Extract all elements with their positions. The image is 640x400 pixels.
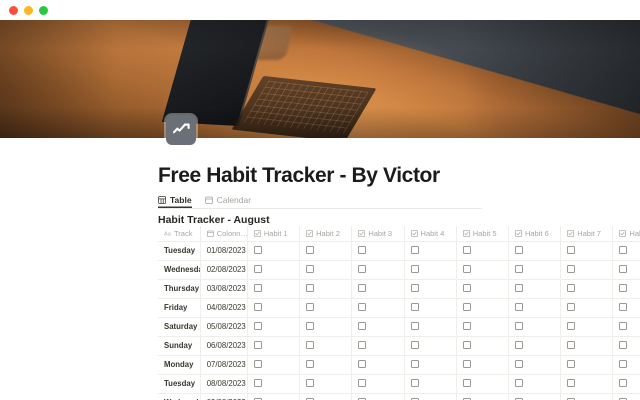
cell-habit-7[interactable]: [561, 279, 613, 298]
cover-vignette: [0, 20, 640, 138]
cell-habit-3[interactable]: [352, 336, 404, 355]
checkbox-habit-8[interactable]: [619, 341, 627, 349]
checkbox-habit-5[interactable]: [463, 379, 471, 387]
minimize-button[interactable]: [24, 6, 33, 15]
checkbox-habit-4[interactable]: [411, 341, 419, 349]
checkbox-habit-6[interactable]: [515, 265, 523, 273]
cell-habit-5[interactable]: [456, 355, 508, 374]
checkbox-icon: [411, 230, 418, 237]
checkbox-habit-7[interactable]: [567, 322, 575, 330]
table-row[interactable]: Thursday03/08/2023: [158, 279, 640, 298]
page-body: Free Habit Tracker - By Victor Table: [0, 138, 640, 400]
checkbox-habit-6[interactable]: [515, 379, 523, 387]
cell-habit-6[interactable]: [508, 279, 560, 298]
table-row[interactable]: Monday07/08/2023: [158, 355, 640, 374]
cell-day[interactable]: Sunday: [158, 336, 200, 355]
checkbox-habit-4[interactable]: [411, 322, 419, 330]
column-header-habit-8[interactable]: Habit 8: [613, 226, 640, 241]
column-header-track[interactable]: Aa Track: [158, 226, 200, 241]
table-row[interactable]: Wednesday02/08/2023: [158, 260, 640, 279]
table-row[interactable]: Tuesday01/08/2023: [158, 241, 640, 260]
page-cover-image[interactable]: [0, 20, 640, 138]
cell-day[interactable]: Saturday: [158, 317, 200, 336]
cell-date[interactable]: 07/08/2023: [200, 355, 247, 374]
cell-date[interactable]: 02/08/2023: [200, 260, 247, 279]
cell-habit-1[interactable]: [247, 298, 299, 317]
cell-habit-1[interactable]: [247, 393, 299, 400]
column-header-colonne-label: Colonn…: [217, 229, 248, 238]
cell-habit-3[interactable]: [352, 260, 404, 279]
cell-habit-5[interactable]: [456, 393, 508, 400]
tab-bar-divider: [158, 208, 482, 209]
column-header-colonne[interactable]: Colonn…: [200, 226, 247, 241]
cell-habit-2[interactable]: [300, 374, 352, 393]
cell-date[interactable]: 03/08/2023: [200, 279, 247, 298]
checkbox-habit-6[interactable]: [515, 341, 523, 349]
checkbox-habit-3[interactable]: [358, 341, 366, 349]
checkbox-habit-7[interactable]: [567, 265, 575, 273]
cell-habit-1[interactable]: [247, 279, 299, 298]
cell-habit-6[interactable]: [508, 374, 560, 393]
cell-habit-5[interactable]: [456, 374, 508, 393]
chart-icon[interactable]: [166, 115, 196, 145]
column-header-habit-7-label: Habit 7: [577, 229, 601, 238]
page-title: Free Habit Tracker - By Victor: [158, 164, 440, 188]
close-button[interactable]: [9, 6, 18, 15]
column-header-habit-5-label: Habit 5: [473, 229, 497, 238]
cell-habit-8[interactable]: [613, 241, 640, 260]
checkbox-habit-2[interactable]: [306, 379, 314, 387]
cell-habit-4[interactable]: [404, 317, 456, 336]
cell-habit-3[interactable]: [352, 393, 404, 400]
checkbox-habit-2[interactable]: [306, 265, 314, 273]
table-row[interactable]: Tuesday08/08/2023: [158, 374, 640, 393]
cell-habit-6[interactable]: [508, 393, 560, 400]
cell-habit-3[interactable]: [352, 317, 404, 336]
cell-habit-6[interactable]: [508, 317, 560, 336]
cell-habit-8[interactable]: [613, 317, 640, 336]
checkbox-icon: [515, 230, 522, 237]
tab-table-label: Table: [170, 195, 192, 205]
column-header-habit-8-label: Habit 8: [629, 229, 640, 238]
checkbox-habit-2[interactable]: [306, 322, 314, 330]
checkbox-habit-8[interactable]: [619, 246, 627, 254]
table-header-row: Aa Track: [158, 226, 640, 241]
cell-date[interactable]: 05/08/2023: [200, 317, 247, 336]
checkbox-habit-8[interactable]: [619, 303, 627, 311]
cell-habit-1[interactable]: [247, 374, 299, 393]
cell-habit-4[interactable]: [404, 374, 456, 393]
checkbox-habit-2[interactable]: [306, 303, 314, 311]
column-header-habit-1[interactable]: Habit 1: [247, 226, 299, 241]
cell-habit-7[interactable]: [561, 355, 613, 374]
checkbox-habit-7[interactable]: [567, 303, 575, 311]
cell-habit-7[interactable]: [561, 260, 613, 279]
cell-habit-4[interactable]: [404, 279, 456, 298]
cell-habit-3[interactable]: [352, 298, 404, 317]
checkbox-habit-7[interactable]: [567, 246, 575, 254]
table-body: Tuesday01/08/2023Wednesday02/08/2023Thur…: [158, 241, 640, 400]
cell-day[interactable]: Monday: [158, 355, 200, 374]
cell-habit-4[interactable]: [404, 336, 456, 355]
habit-table: Aa Track: [158, 226, 640, 400]
cell-habit-8[interactable]: [613, 260, 640, 279]
cell-habit-3[interactable]: [352, 355, 404, 374]
checkbox-habit-5[interactable]: [463, 322, 471, 330]
table-row[interactable]: Wednesday09/08/2023: [158, 393, 640, 400]
cell-habit-7[interactable]: [561, 298, 613, 317]
checkbox-habit-1[interactable]: [254, 322, 262, 330]
checkbox-habit-5[interactable]: [463, 341, 471, 349]
checkbox-icon: [358, 230, 365, 237]
column-header-habit-3[interactable]: Habit 3: [352, 226, 404, 241]
checkbox-habit-6[interactable]: [515, 303, 523, 311]
column-header-habit-1-label: Habit 1: [264, 229, 288, 238]
checkbox-habit-5[interactable]: [463, 284, 471, 292]
cell-habit-7[interactable]: [561, 374, 613, 393]
cell-habit-1[interactable]: [247, 355, 299, 374]
checkbox-habit-3[interactable]: [358, 284, 366, 292]
cell-habit-7[interactable]: [561, 393, 613, 400]
table-row[interactable]: Saturday05/08/2023: [158, 317, 640, 336]
cell-habit-8[interactable]: [613, 374, 640, 393]
checkbox-habit-3[interactable]: [358, 322, 366, 330]
checkbox-habit-4[interactable]: [411, 265, 419, 273]
column-header-habit-2-label: Habit 2: [316, 229, 340, 238]
cell-habit-1[interactable]: [247, 336, 299, 355]
checkbox-icon: [463, 230, 470, 237]
cell-habit-7[interactable]: [561, 336, 613, 355]
column-header-habit-4[interactable]: Habit 4: [404, 226, 456, 241]
cell-habit-2[interactable]: [300, 260, 352, 279]
svg-text:Aa: Aa: [164, 231, 171, 237]
cell-habit-2[interactable]: [300, 393, 352, 400]
tab-calendar-label: Calendar: [217, 195, 252, 205]
cell-habit-6[interactable]: [508, 260, 560, 279]
cell-habit-8[interactable]: [613, 279, 640, 298]
column-header-track-label: Track: [174, 229, 192, 238]
checkbox-habit-1[interactable]: [254, 360, 262, 368]
table-icon: [158, 196, 166, 204]
cell-day[interactable]: Wednesday: [158, 260, 200, 279]
cell-day[interactable]: Wednesday: [158, 393, 200, 400]
checkbox-habit-6[interactable]: [515, 360, 523, 368]
checkbox-habit-8[interactable]: [619, 379, 627, 387]
cell-habit-5[interactable]: [456, 298, 508, 317]
cell-habit-2[interactable]: [300, 317, 352, 336]
cell-habit-5[interactable]: [456, 241, 508, 260]
checkbox-icon: [306, 230, 313, 237]
checkbox-habit-1[interactable]: [254, 341, 262, 349]
checkbox-habit-2[interactable]: [306, 360, 314, 368]
checkbox-habit-6[interactable]: [515, 284, 523, 292]
cell-habit-3[interactable]: [352, 279, 404, 298]
checkbox-habit-2[interactable]: [306, 341, 314, 349]
database-title: Habit Tracker - August: [158, 214, 270, 226]
cell-habit-6[interactable]: [508, 298, 560, 317]
column-header-habit-5[interactable]: Habit 5: [456, 226, 508, 241]
text-icon: Aa: [164, 230, 171, 237]
cell-habit-6[interactable]: [508, 355, 560, 374]
checkbox-habit-3[interactable]: [358, 360, 366, 368]
checkbox-habit-1[interactable]: [254, 284, 262, 292]
cell-day[interactable]: Thursday: [158, 279, 200, 298]
column-header-habit-3-label: Habit 3: [368, 229, 392, 238]
cell-habit-3[interactable]: [352, 374, 404, 393]
cell-date[interactable]: 08/08/2023: [200, 374, 247, 393]
checkbox-habit-1[interactable]: [254, 265, 262, 273]
column-header-habit-6[interactable]: Habit 6: [508, 226, 560, 241]
tab-table[interactable]: Table: [158, 195, 192, 208]
column-header-habit-7[interactable]: Habit 7: [561, 226, 613, 241]
cell-habit-4[interactable]: [404, 241, 456, 260]
cell-habit-1[interactable]: [247, 317, 299, 336]
cell-habit-6[interactable]: [508, 336, 560, 355]
cell-day[interactable]: Friday: [158, 298, 200, 317]
checkbox-habit-5[interactable]: [463, 303, 471, 311]
checkbox-icon: [567, 230, 574, 237]
column-header-habit-4-label: Habit 4: [421, 229, 445, 238]
checkbox-habit-7[interactable]: [567, 341, 575, 349]
checkbox-habit-4[interactable]: [411, 284, 419, 292]
checkbox-habit-3[interactable]: [358, 265, 366, 273]
cell-habit-2[interactable]: [300, 241, 352, 260]
checkbox-habit-1[interactable]: [254, 246, 262, 254]
cell-habit-3[interactable]: [352, 241, 404, 260]
table-row[interactable]: Sunday06/08/2023: [158, 336, 640, 355]
checkbox-habit-3[interactable]: [358, 379, 366, 387]
column-header-habit-2[interactable]: Habit 2: [300, 226, 352, 241]
cell-date[interactable]: 04/08/2023: [200, 298, 247, 317]
checkbox-habit-6[interactable]: [515, 246, 523, 254]
checkbox-habit-5[interactable]: [463, 265, 471, 273]
checkbox-habit-3[interactable]: [358, 303, 366, 311]
checkbox-habit-6[interactable]: [515, 322, 523, 330]
cell-day[interactable]: Tuesday: [158, 241, 200, 260]
checkbox-habit-5[interactable]: [463, 360, 471, 368]
date-icon: [207, 230, 214, 237]
cell-habit-4[interactable]: [404, 355, 456, 374]
cell-habit-4[interactable]: [404, 298, 456, 317]
checkbox-habit-7[interactable]: [567, 284, 575, 292]
cell-habit-2[interactable]: [300, 336, 352, 355]
cell-habit-6[interactable]: [508, 241, 560, 260]
column-header-habit-6-label: Habit 6: [525, 229, 549, 238]
checkbox-habit-5[interactable]: [463, 246, 471, 254]
checkbox-habit-8[interactable]: [619, 322, 627, 330]
view-tab-bar: Table Calendar: [158, 191, 251, 208]
cell-habit-7[interactable]: [561, 241, 613, 260]
cell-habit-5[interactable]: [456, 260, 508, 279]
cell-habit-1[interactable]: [247, 260, 299, 279]
zoom-button[interactable]: [39, 6, 48, 15]
cell-habit-2[interactable]: [300, 355, 352, 374]
cell-habit-8[interactable]: [613, 298, 640, 317]
cell-day[interactable]: Tuesday: [158, 374, 200, 393]
cell-date[interactable]: 09/08/2023: [200, 393, 247, 400]
checkbox-habit-3[interactable]: [358, 246, 366, 254]
cell-habit-8[interactable]: [613, 336, 640, 355]
checkbox-habit-2[interactable]: [306, 284, 314, 292]
checkbox-habit-1[interactable]: [254, 303, 262, 311]
calendar-icon: [205, 196, 213, 204]
cell-habit-7[interactable]: [561, 317, 613, 336]
checkbox-icon: [254, 230, 261, 237]
cell-date[interactable]: 06/08/2023: [200, 336, 247, 355]
table-row[interactable]: Friday04/08/2023: [158, 298, 640, 317]
checkbox-habit-7[interactable]: [567, 360, 575, 368]
cell-habit-1[interactable]: [247, 241, 299, 260]
cell-habit-2[interactable]: [300, 279, 352, 298]
checkbox-habit-4[interactable]: [411, 379, 419, 387]
cell-habit-5[interactable]: [456, 279, 508, 298]
cell-habit-5[interactable]: [456, 317, 508, 336]
checkbox-habit-4[interactable]: [411, 246, 419, 254]
window-titlebar: [0, 0, 640, 20]
checkbox-habit-8[interactable]: [619, 284, 627, 292]
cell-habit-8[interactable]: [613, 355, 640, 374]
table-scroll-area[interactable]: Aa Track: [158, 226, 640, 400]
tab-calendar[interactable]: Calendar: [205, 195, 252, 208]
checkbox-habit-8[interactable]: [619, 265, 627, 273]
checkbox-habit-8[interactable]: [619, 360, 627, 368]
checkbox-habit-4[interactable]: [411, 303, 419, 311]
cell-habit-8[interactable]: [613, 393, 640, 400]
cell-habit-4[interactable]: [404, 260, 456, 279]
checkbox-habit-4[interactable]: [411, 360, 419, 368]
checkbox-habit-1[interactable]: [254, 379, 262, 387]
cell-habit-4[interactable]: [404, 393, 456, 400]
cell-date[interactable]: 01/08/2023: [200, 241, 247, 260]
checkbox-habit-7[interactable]: [567, 379, 575, 387]
checkbox-habit-2[interactable]: [306, 246, 314, 254]
cell-habit-5[interactable]: [456, 336, 508, 355]
checkbox-icon: [619, 230, 626, 237]
cell-habit-2[interactable]: [300, 298, 352, 317]
